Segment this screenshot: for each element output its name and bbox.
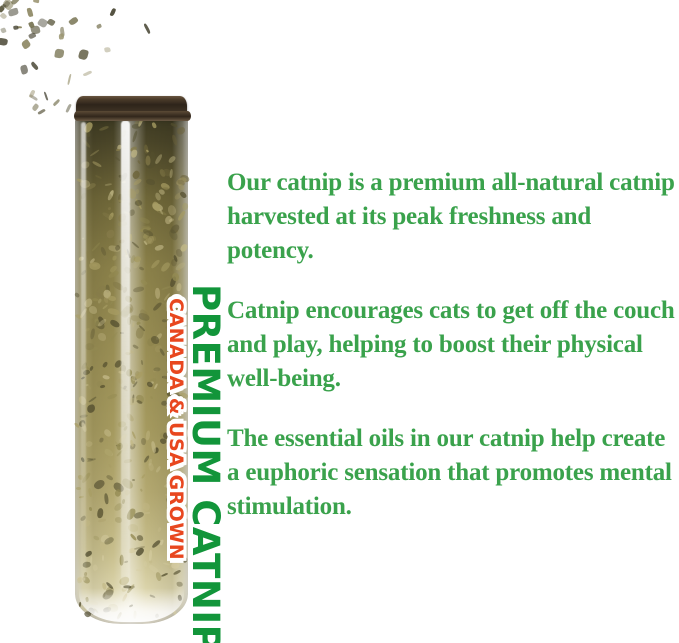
- catnip-flake: [0, 27, 6, 33]
- catnip-speck: [135, 327, 143, 339]
- catnip-speck: [99, 247, 107, 256]
- tube-highlight: [121, 120, 130, 590]
- catnip-speck: [133, 322, 135, 327]
- catnip-speck: [107, 207, 111, 211]
- catnip-flake: [53, 99, 60, 106]
- catnip-speck: [154, 288, 160, 300]
- catnip-speck: [102, 361, 108, 368]
- catnip-speck: [87, 385, 91, 390]
- catnip-speck: [152, 121, 158, 128]
- catnip-flake: [32, 0, 39, 4]
- catnip-speck: [90, 556, 92, 564]
- catnip-tube: PREMIUM CATNIP CANADA & USA GROWN: [75, 96, 188, 624]
- catnip-flake: [110, 7, 117, 16]
- catnip-speck: [177, 211, 185, 222]
- catnip-speck: [89, 396, 97, 403]
- catnip-speck: [85, 439, 93, 447]
- catnip-flake: [27, 7, 33, 17]
- catnip-flake: [0, 5, 5, 12]
- catnip-speck: [180, 190, 188, 199]
- catnip-speck: [144, 561, 147, 567]
- catnip-speck: [103, 493, 108, 505]
- catnip-flake: [38, 108, 46, 115]
- catnip-flake: [143, 23, 151, 34]
- catnip-flake: [20, 39, 31, 50]
- catnip-flake: [0, 38, 7, 47]
- catnip-speck: [105, 437, 112, 443]
- catnip-flake: [58, 33, 64, 40]
- catnip-speck: [108, 464, 112, 468]
- catnip-flake: [68, 15, 79, 26]
- catnip-flake: [0, 12, 8, 20]
- label-headline: PREMIUM CATNIP: [184, 284, 227, 643]
- catnip-flake: [12, 25, 18, 30]
- catnip-speck: [145, 179, 155, 186]
- catnip-speck: [106, 474, 114, 481]
- catnip-speck: [108, 295, 116, 300]
- catnip-speck: [132, 431, 137, 439]
- catnip-flake: [77, 48, 89, 60]
- catnip-speck: [97, 518, 105, 523]
- catnip-flake: [44, 92, 49, 101]
- copy-paragraph-1: Our catnip is a premium all-natural catn…: [227, 166, 679, 268]
- catnip-flake: [2, 1, 10, 9]
- catnip-flake: [67, 73, 71, 84]
- catnip-speck: [154, 383, 158, 389]
- catnip-speck: [149, 549, 152, 560]
- catnip-flake: [30, 61, 39, 71]
- catnip-speck: [136, 160, 140, 165]
- catnip-speck: [157, 527, 162, 532]
- catnip-speck: [150, 258, 161, 269]
- catnip-speck: [106, 230, 116, 240]
- catnip-speck: [154, 366, 161, 371]
- catnip-flake: [28, 21, 34, 28]
- catnip-speck: [116, 148, 120, 151]
- catnip-speck: [132, 345, 138, 350]
- catnip-flake: [59, 27, 65, 38]
- catnip-speck: [89, 507, 92, 511]
- tube-cap: [76, 96, 187, 119]
- catnip-speck: [98, 333, 107, 341]
- tube-cap-rim: [74, 111, 191, 121]
- catnip-speck: [146, 149, 149, 152]
- catnip-speck: [97, 299, 102, 304]
- catnip-speck: [74, 292, 80, 298]
- catnip-speck: [170, 169, 173, 178]
- catnip-flake: [30, 25, 41, 35]
- label-subhead: CANADA & USA GROWN: [165, 298, 187, 560]
- catnip-flake: [54, 49, 65, 59]
- catnip-speck: [115, 156, 121, 161]
- catnip-flake: [11, 0, 21, 6]
- catnip-speck: [141, 360, 143, 365]
- catnip-speck: [131, 149, 137, 157]
- catnip-speck: [140, 488, 143, 491]
- catnip-speck: [177, 127, 186, 135]
- catnip-speck: [139, 266, 145, 272]
- catnip-speck: [132, 131, 138, 143]
- catnip-speck: [141, 473, 146, 478]
- catnip-speck: [86, 404, 95, 413]
- catnip-speck: [141, 502, 151, 512]
- copy-paragraph-2: Catnip encourages cats to get off the co…: [227, 294, 679, 396]
- catnip-speck: [92, 535, 99, 541]
- catnip-speck: [129, 533, 137, 541]
- catnip-speck: [178, 268, 182, 272]
- catnip-speck: [102, 304, 107, 309]
- catnip-flake: [37, 17, 49, 28]
- catnip-speck: [138, 216, 150, 224]
- catnip-flake: [2, 4, 7, 8]
- catnip-speck: [97, 508, 103, 518]
- catnip-speck: [136, 321, 141, 324]
- catnip-speck: [89, 261, 101, 271]
- catnip-speck: [99, 125, 109, 132]
- catnip-flake: [104, 46, 111, 53]
- catnip-flake: [1, 0, 15, 11]
- catnip-speck: [91, 563, 99, 571]
- catnip-speck: [165, 204, 177, 216]
- catnip-speck: [92, 161, 102, 168]
- catnip-speck: [147, 462, 155, 471]
- catnip-speck: [112, 255, 117, 261]
- catnip-speck: [140, 279, 148, 286]
- catnip-flake: [7, 7, 18, 16]
- catnip-speck: [90, 329, 95, 340]
- catnip-speck: [178, 184, 185, 190]
- catnip-speck: [131, 479, 135, 482]
- catnip-speck: [93, 477, 106, 490]
- catnip-speck: [109, 319, 120, 328]
- catnip-speck: [150, 396, 153, 399]
- catnip-speck: [171, 134, 179, 146]
- catnip-flake: [32, 103, 40, 112]
- catnip-speck: [89, 149, 99, 157]
- tube-highlight-secondary: [81, 122, 86, 582]
- catnip-flake: [28, 90, 35, 99]
- catnip-speck: [176, 249, 182, 257]
- catnip-flake: [29, 94, 38, 101]
- catnip-speck: [169, 123, 177, 128]
- catnip-speck: [144, 511, 151, 513]
- catnip-speck: [107, 393, 118, 401]
- catnip-flake: [96, 23, 102, 29]
- catnip-speck: [136, 568, 143, 571]
- catnip-speck: [99, 437, 104, 443]
- catnip-speck: [168, 155, 177, 165]
- catnip-speck: [91, 242, 101, 252]
- catnip-speck: [144, 186, 150, 192]
- catnip-speck: [102, 429, 112, 438]
- catnip-speck: [133, 286, 145, 294]
- catnip-speck: [103, 256, 108, 259]
- catnip-speck: [145, 430, 150, 440]
- catnip-speck: [88, 488, 93, 497]
- catnip-speck: [154, 244, 164, 252]
- catnip-speck: [105, 183, 112, 186]
- catnip-flake: [66, 104, 72, 114]
- catnip-flake: [20, 65, 30, 76]
- catnip-speck: [155, 466, 161, 473]
- catnip-speck: [102, 555, 105, 561]
- catnip-flake: [17, 26, 22, 28]
- catnip-flake: [28, 31, 36, 39]
- catnip-flake: [83, 70, 92, 77]
- catnip-speck: [130, 388, 133, 391]
- catnip-speck: [108, 308, 120, 315]
- catnip-speck: [151, 336, 159, 344]
- catnip-speck: [102, 374, 110, 380]
- catnip-speck: [131, 241, 139, 248]
- catnip-speck: [136, 534, 144, 542]
- product-feature-image: PREMIUM CATNIP CANADA & USA GROWN Our ca…: [0, 0, 679, 643]
- copy-paragraph-3: The essential oils in our catnip help cr…: [227, 422, 679, 524]
- catnip-speck: [95, 175, 102, 179]
- catnip-speck: [109, 331, 117, 341]
- catnip-flake: [46, 17, 55, 26]
- marketing-copy: Our catnip is a premium all-natural catn…: [227, 166, 679, 524]
